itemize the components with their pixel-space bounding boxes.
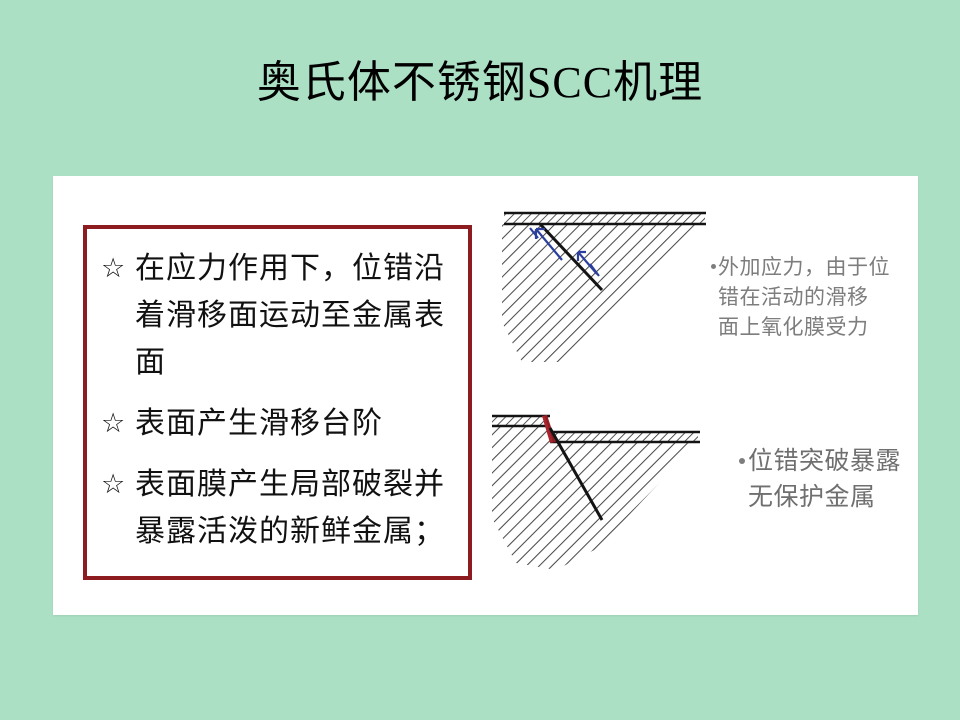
- metal-body: [502, 224, 705, 362]
- star-icon: ☆: [101, 245, 135, 292]
- list-item: ☆ 表面产生滑移台阶: [101, 400, 458, 447]
- list-item-label: 表面膜产生局部破裂并暴露活泼的新鲜金属；: [135, 461, 458, 555]
- diagram-bottom-caption: 位错突破暴露 无保护金属: [748, 443, 948, 515]
- diagram-applied-stress: 外加应力，由于位 错在活动的滑移 面上氧化膜受力: [500, 202, 910, 372]
- star-icon: ☆: [101, 400, 135, 447]
- caption-bullet-icon: [739, 458, 745, 464]
- list-item: ☆ 在应力作用下，位错沿着滑移面运动至金属表面: [101, 245, 458, 386]
- list-item-label: 在应力作用下，位错沿着滑移面运动至金属表面: [135, 245, 458, 386]
- oxide-film-left: [492, 417, 549, 426]
- metal-body: [492, 426, 698, 570]
- applied-stress-figure: [500, 202, 730, 372]
- caption-bullet-icon: [711, 264, 716, 269]
- diagram-top-caption: 外加应力，由于位 错在活动的滑移 面上氧化膜受力: [718, 252, 918, 342]
- page-title: 奥氏体不锈钢SCC机理: [0, 55, 960, 111]
- diagram-dislocation-breakout: 位错突破暴露 无保护金属: [490, 398, 910, 573]
- dislocation-breakout-figure: [490, 398, 740, 573]
- content-panel: ☆ 在应力作用下，位错沿着滑移面运动至金属表面 ☆ 表面产生滑移台阶 ☆ 表面膜…: [53, 176, 918, 615]
- star-icon: ☆: [101, 461, 135, 508]
- oxide-film-band: [504, 214, 705, 223]
- list-item: ☆ 表面膜产生局部破裂并暴露活泼的新鲜金属；: [101, 461, 458, 555]
- oxide-film-right: [552, 433, 698, 442]
- list-item-label: 表面产生滑移台阶: [135, 400, 458, 447]
- bullet-list-box: ☆ 在应力作用下，位错沿着滑移面运动至金属表面 ☆ 表面产生滑移台阶 ☆ 表面膜…: [83, 225, 472, 580]
